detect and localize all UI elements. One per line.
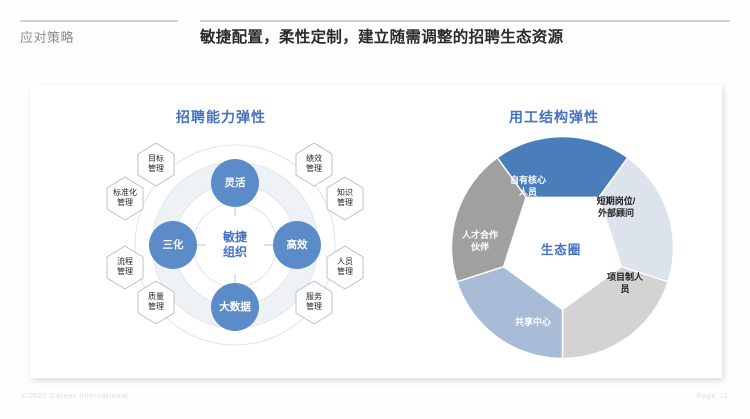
capability-rings-svg	[85, 140, 385, 355]
recruiting-capability-diagram: 敏捷 组织 灵活 高效 大数据 三化 目标 管理 标准化 管理 流程 管理 质量…	[85, 140, 385, 355]
header-rule-left	[20, 20, 178, 22]
footer-copyright: ©2020 Career International	[22, 391, 128, 400]
left-panel-title: 招聘能力弹性	[176, 107, 266, 127]
pillar-circle-bottom[interactable]	[211, 283, 259, 331]
hex-left-3[interactable]	[107, 246, 143, 289]
hex-left-1[interactable]	[138, 143, 174, 186]
pentagon-donut-svg	[440, 135, 685, 360]
pillar-circle-right[interactable]	[273, 221, 321, 269]
header-kicker: 应对策略	[20, 27, 74, 46]
workforce-structure-chart: 生态圈 自有核心 人员 短期岗位/ 外部顾问 项目制人 员 共享中心 人才合作 …	[440, 135, 685, 360]
hex-right-1[interactable]	[296, 143, 332, 186]
slide-root: 应对策略 敏捷配置，柔性定制，建立随需调整的招聘生态资源 招聘能力弹性 用工结构…	[0, 0, 750, 419]
hex-left-2[interactable]	[107, 177, 143, 220]
footer-page-number[interactable]: Page 11	[696, 391, 728, 400]
header-rule-right	[200, 20, 730, 22]
hex-right-2[interactable]	[327, 177, 363, 220]
hex-right-3[interactable]	[327, 246, 363, 289]
pillar-circle-top[interactable]	[211, 159, 259, 207]
right-panel-title: 用工结构弹性	[509, 107, 599, 127]
pillar-circle-left[interactable]	[149, 221, 197, 269]
page-title: 敏捷配置，柔性定制，建立随需调整的招聘生态资源	[200, 25, 563, 47]
